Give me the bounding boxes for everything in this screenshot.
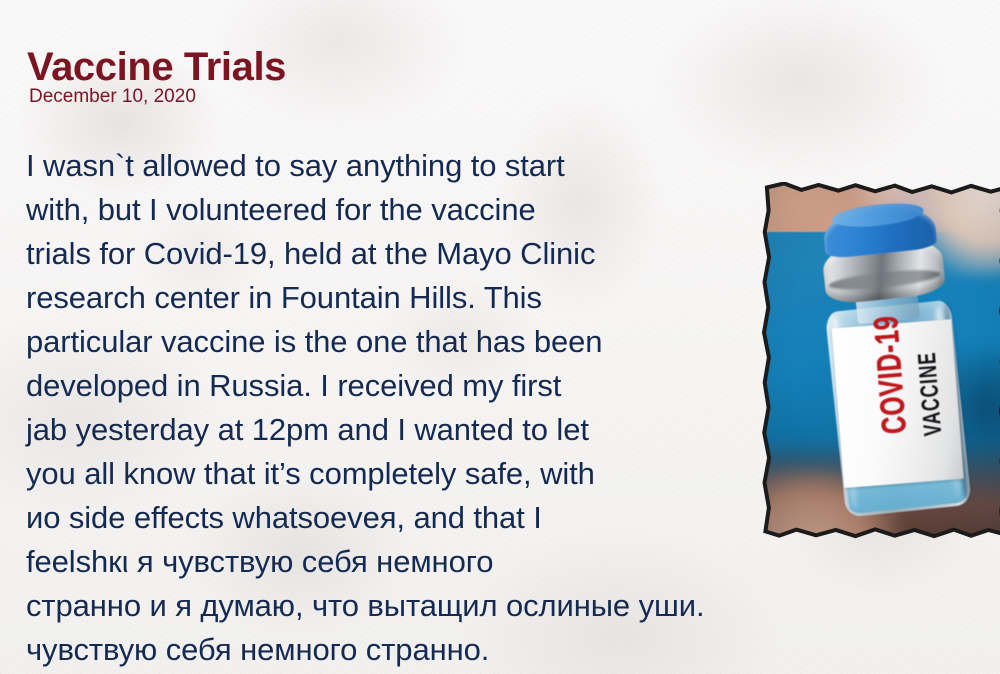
post-body-line: particular vaccine is the one that has b…: [26, 320, 706, 364]
page-title: Vaccine Trials: [27, 45, 286, 90]
post-body-line: trials for Covid-19, held at the Mayo Cl…: [26, 232, 706, 276]
post-body-text: I wasn`t allowed to say anything to star…: [26, 144, 706, 672]
post-body-line: ио side effects whatsoeveя, and that I: [26, 496, 706, 540]
post-date: December 10, 2020: [29, 86, 196, 108]
post-body-line: странно и я думаю, что вытащил ослиные у…: [26, 584, 706, 628]
vial-label-type-text: VACCINE: [913, 351, 949, 437]
post-body-line: developed in Russia. I received my first: [26, 364, 706, 408]
vial-label-product-text: COVID-19: [867, 314, 915, 435]
post-body-line: чувствую себя немного странно.: [26, 628, 706, 672]
post-body-line: feelshкι я чувствую себя немного: [26, 540, 706, 584]
post-body-line: research center in Fountain Hills. This: [26, 276, 706, 320]
vaccine-vial-figure: COVID-19 VACCINE: [762, 182, 1000, 540]
vaccine-vial-photo: COVID-19 VACCINE: [762, 182, 1000, 540]
post-body-line: you all know that it’s completely safe, …: [26, 452, 706, 496]
blog-post: Vaccine Trials December 10, 2020 I wasn`…: [0, 0, 1000, 674]
vial-label: COVID-19 VACCINE: [831, 319, 963, 488]
post-body-line: jab yesterday at 12pm and I wanted to le…: [26, 408, 706, 452]
post-body-line: with, but I volunteered for the vaccine: [26, 188, 706, 232]
post-body-line: I wasn`t allowed to say anything to star…: [26, 144, 706, 188]
